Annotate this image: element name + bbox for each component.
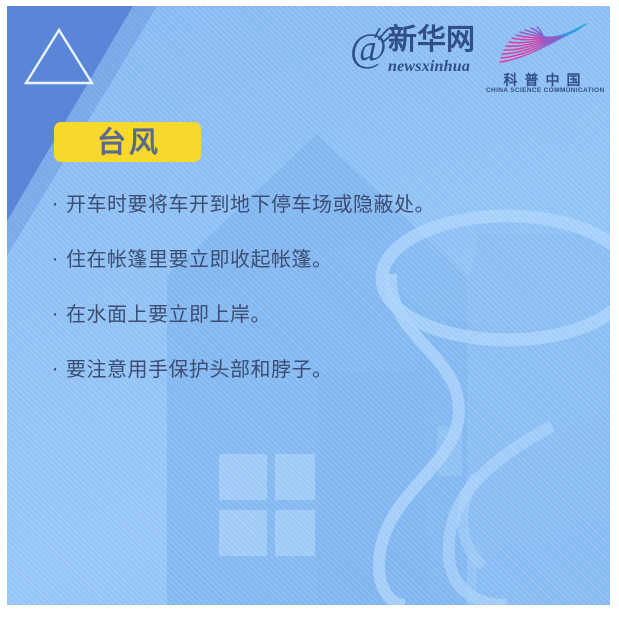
svg-text:@: @ (350, 28, 387, 70)
tips-list: · 开车时要将车开到地下停车场或隐蔽处。 · 住在帐篷里要立即收起帐篷。 · 在… (52, 192, 592, 412)
gradient-fan-icon (490, 20, 594, 70)
xinhua-cn-name: 新华网 (388, 22, 475, 56)
infographic-poster: @ 新华网 newsxinhua (7, 6, 610, 605)
bullet-dot-icon: · (52, 194, 66, 216)
list-item: · 在水面上要立即上岸。 (52, 302, 592, 326)
tip-text: 开车时要将车开到地下停车场或隐蔽处。 (66, 192, 435, 216)
list-item: · 要注意用手保护头部和脖子。 (52, 357, 592, 381)
xinhua-logo[interactable]: @ 新华网 newsxinhua (350, 20, 472, 82)
xinhua-en-name: newsxinhua (388, 58, 470, 76)
tip-text: 要注意用手保护头部和脖子。 (66, 357, 333, 381)
list-item: · 开车时要将车开到地下停车场或隐蔽处。 (52, 192, 592, 216)
title-badge: 台风 (54, 122, 201, 162)
tip-text: 住在帐篷里要立即收起帐篷。 (66, 247, 333, 271)
bullet-dot-icon: · (52, 249, 66, 271)
list-item: · 住在帐篷里要立即收起帐篷。 (52, 247, 592, 271)
bullet-dot-icon: · (52, 304, 66, 326)
tip-text: 在水面上要立即上岸。 (66, 302, 271, 326)
bullet-dot-icon: · (52, 359, 66, 381)
kepu-logo[interactable]: 科普中国 CHINA SCIENCE COMMUNICATION (486, 20, 598, 96)
page-title: 台风 (94, 128, 161, 157)
logo-row: @ 新华网 newsxinhua (350, 20, 598, 96)
triangle-outline-icon (23, 26, 95, 88)
kepu-en-name: CHINA SCIENCE COMMUNICATION (486, 87, 598, 94)
